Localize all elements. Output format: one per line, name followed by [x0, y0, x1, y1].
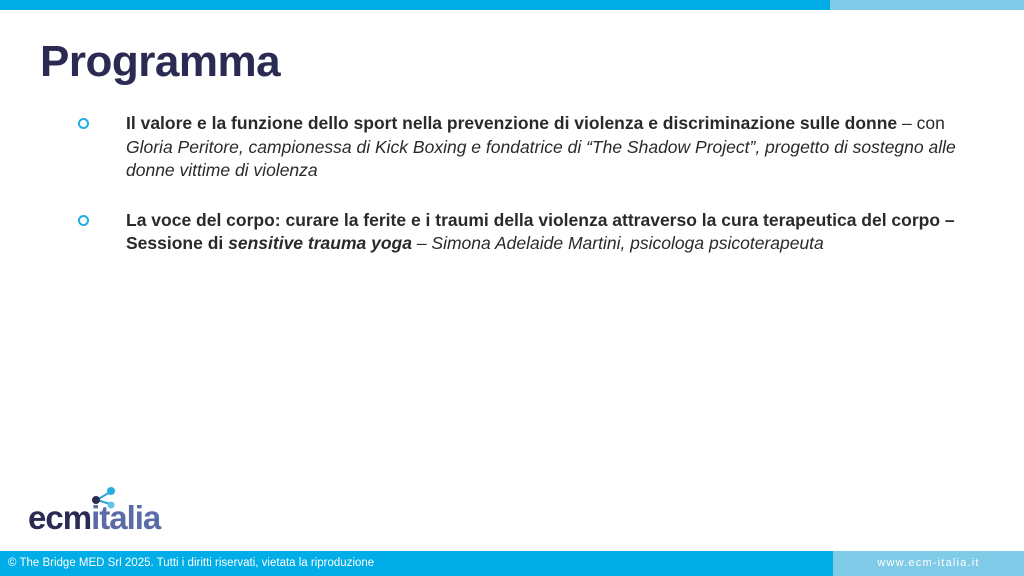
- hollow-circle-icon: [78, 215, 89, 226]
- bullet-text: Il valore e la funzione dello sport nell…: [126, 112, 958, 183]
- footer-website[interactable]: www.ecm-italia.it: [877, 557, 979, 570]
- hollow-circle-icon: [78, 118, 89, 129]
- list-item: La voce del corpo: curare la ferite e i …: [78, 209, 958, 256]
- logo: ecmitalia: [28, 486, 208, 536]
- top-accent-bar: [0, 0, 1024, 10]
- list-item: Il valore e la funzione dello sport nell…: [78, 112, 958, 183]
- top-accent-bar-right: [830, 0, 1024, 10]
- bullet-text: La voce del corpo: curare la ferite e i …: [126, 209, 958, 256]
- slide-title: Programma: [40, 36, 280, 88]
- bullet-segment-bold: Il valore e la funzione dello sport nell…: [126, 113, 897, 133]
- logo-word-secondary: italia: [91, 499, 160, 536]
- logo-word-primary: ecm: [28, 499, 91, 536]
- bullet-segment-italic: Gloria Peritore, campionessa di Kick Box…: [126, 137, 956, 181]
- bullet-segment-normal: – con: [897, 113, 945, 133]
- footer-right: www.ecm-italia.it: [833, 551, 1024, 576]
- bullet-segment-italic: – Simona Adelaide Martini, psicologa psi…: [417, 233, 824, 253]
- footer-bar: © The Bridge MED Srl 2025. Tutti i dirit…: [0, 551, 1024, 576]
- bullet-list: Il valore e la funzione dello sport nell…: [78, 112, 958, 282]
- footer-left: © The Bridge MED Srl 2025. Tutti i dirit…: [0, 551, 833, 576]
- top-accent-bar-left: [0, 0, 830, 10]
- bullet-segment-bold-italic: sensitive trauma yoga: [228, 233, 412, 253]
- logo-wordmark: ecmitalia: [28, 500, 160, 536]
- footer-copyright: © The Bridge MED Srl 2025. Tutti i dirit…: [0, 557, 374, 570]
